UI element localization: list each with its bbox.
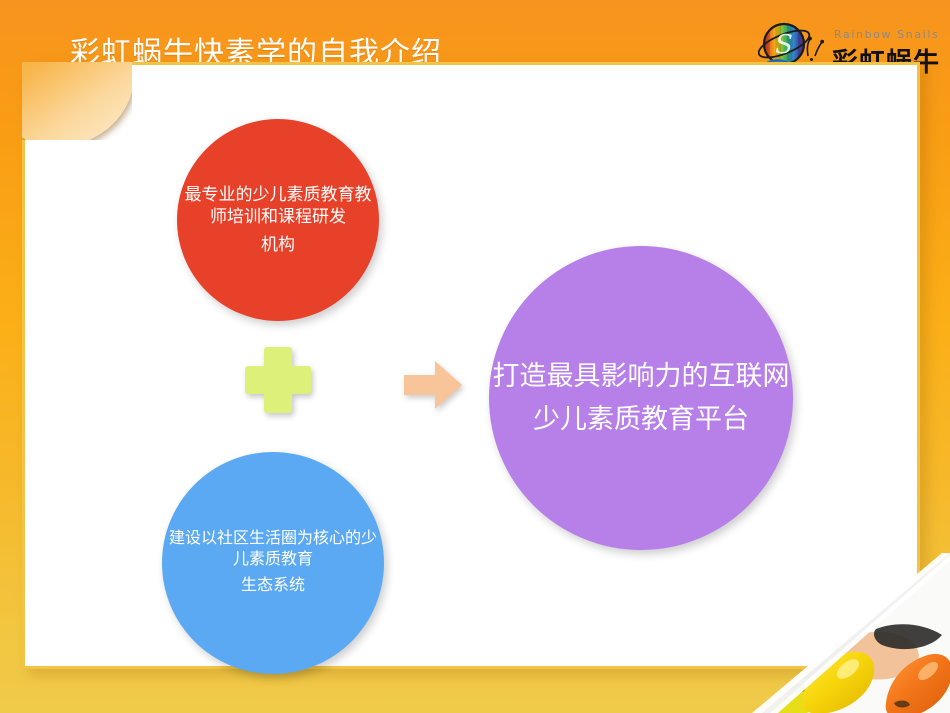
slide-canvas: 彩虹蜗牛快素学的自我介绍	[0, 0, 950, 713]
node-blue-line-b: 生态系统	[241, 576, 305, 597]
node-purple-line-a: 打造最具影响力的互联网	[493, 359, 790, 394]
logo-text-english: Rainbow Snails	[834, 28, 939, 41]
node-blue-line-a: 建设以社区生活圈为核心的少儿素质教育	[162, 529, 384, 571]
diagram-node-red[interactable]: 最专业的少儿素质教育教师培训和课程研发 机构	[177, 119, 379, 321]
svg-text:S: S	[775, 30, 793, 60]
diagram-node-blue[interactable]: 建设以社区生活圈为核心的少儿素质教育 生态系统	[162, 452, 384, 674]
diagram-node-purple[interactable]: 打造最具影响力的互联网 少儿素质教育平台	[489, 246, 793, 550]
plus-icon	[243, 345, 313, 415]
arrow-right-icon	[402, 359, 464, 411]
node-purple-line-b: 少儿素质教育平台	[533, 402, 749, 437]
node-red-line-b: 机构	[261, 234, 295, 256]
node-red-line-a: 最专业的少儿素质教育教师培训和课程研发	[177, 184, 379, 228]
